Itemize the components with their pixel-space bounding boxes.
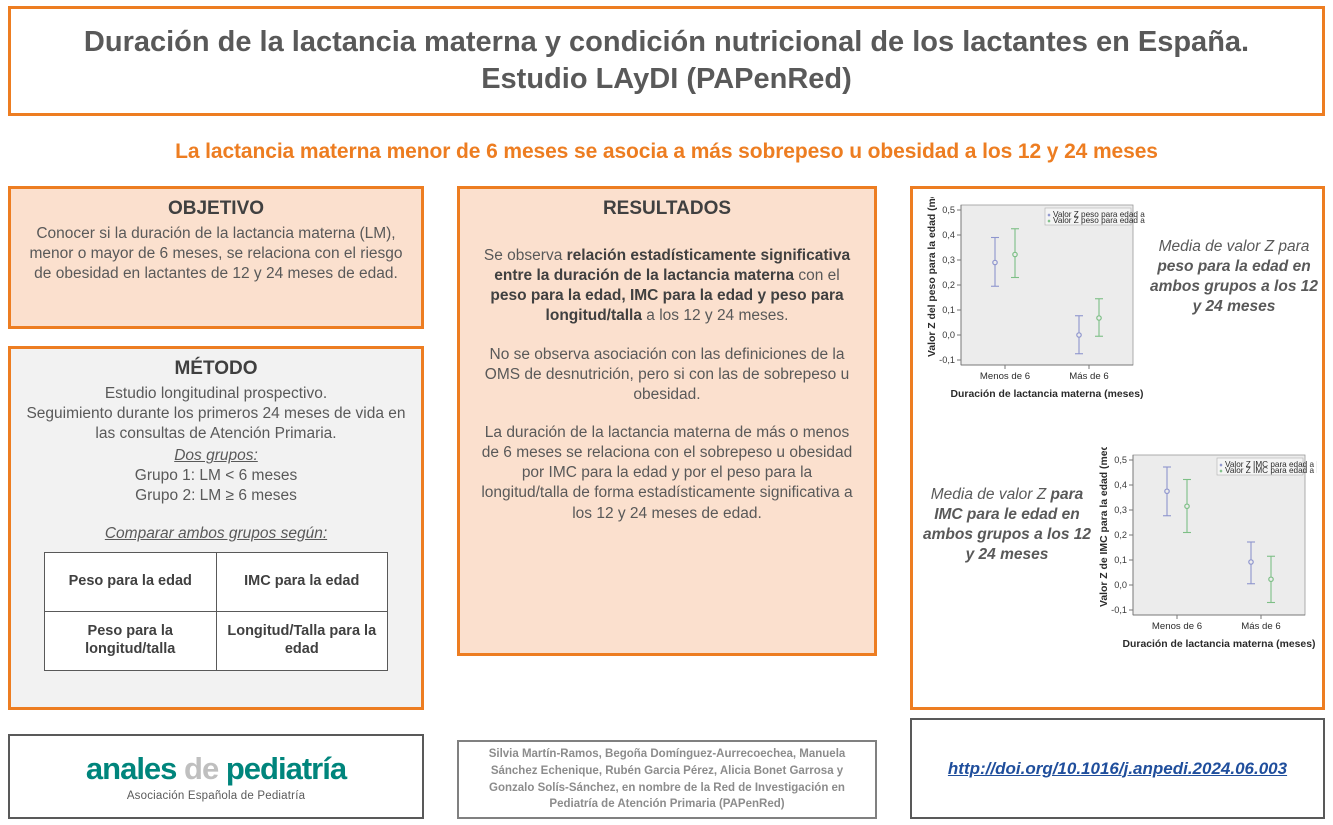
- metodo-indicators-table: Peso para la edad IMC para la edad Peso …: [44, 552, 388, 671]
- svg-text:0,2: 0,2: [942, 280, 955, 290]
- chart1-caption: Media de valor Z para peso para la edad …: [1145, 237, 1323, 318]
- metodo-section: MÉTODO Estudio longitudinal prospectivo.…: [8, 346, 424, 710]
- chart2-cat-2: Más de 6: [1241, 621, 1280, 632]
- logo-word-anales: anales: [86, 751, 177, 786]
- chart-imc-edad-svg: Valor Z de IMC para la edad (media ± IC …: [1093, 447, 1317, 659]
- authors-box: Silvia Martín-Ramos, Begoña Domínguez-Au…: [457, 740, 877, 819]
- doi-box: http://doi.org/10.1016/j.anpedi.2024.06.…: [910, 718, 1325, 819]
- metodo-compare-label: Comparar ambos grupos según:: [23, 524, 409, 544]
- resultados-paragraph-2: No se observa asociación con las definic…: [460, 345, 874, 405]
- logo-word-pediatria: pediatría: [226, 751, 346, 786]
- chart2-plot-area: [1133, 455, 1305, 615]
- svg-text:-0,1: -0,1: [939, 355, 955, 365]
- poster-subtitle: La lactancia materna menor de 6 meses se…: [8, 140, 1325, 164]
- res-p1-seg-c: con el: [794, 267, 840, 284]
- journal-logo-box: anales de pediatría Asociación Española …: [8, 734, 424, 819]
- table-cell-peso-edad: Peso para la edad: [45, 552, 217, 611]
- chart1-legend: Valor Z peso para edad a los 12 meses Va…: [1045, 208, 1145, 225]
- resultados-section: RESULTADOS Se observa relación estadísti…: [457, 186, 877, 656]
- svg-text:0,2: 0,2: [1114, 530, 1127, 540]
- svg-text:0,3: 0,3: [942, 255, 955, 265]
- chart1-cat-2: Más de 6: [1069, 371, 1108, 382]
- chart2-yaxis: 0,50,40,30,20,10,0-0,1: [1111, 455, 1133, 615]
- chart1-cat-1: Menos de 6: [980, 371, 1030, 382]
- metodo-body: Estudio longitudinal prospectivo. Seguim…: [11, 384, 421, 544]
- page-title: Duración de la lactancia materna y condi…: [11, 24, 1322, 98]
- chart2-cat-1: Menos de 6: [1152, 621, 1202, 632]
- chart2-ylabel: Valor Z de IMC para la edad (media ± IC …: [1099, 447, 1110, 607]
- objetivo-body: Conocer si la duración de la lactancia m…: [11, 224, 421, 283]
- cap2-seg-a: Media de valor Z: [931, 486, 1051, 503]
- chart-imc-edad: Valor Z de IMC para la edad (media ± IC …: [1093, 447, 1317, 659]
- chart2-caption: Media de valor Z para IMC para le edad e…: [921, 485, 1093, 566]
- chart-peso-edad-svg: Valor Z del peso para la edad (media ± I…: [921, 197, 1145, 409]
- chart1-ylabel: Valor Z del peso para la edad (media ± I…: [927, 197, 938, 357]
- svg-text:0,0: 0,0: [942, 330, 955, 340]
- metodo-line-1: Estudio longitudinal prospectivo.: [23, 384, 409, 404]
- poster-title-box: Duración de la lactancia materna y condi…: [8, 6, 1325, 116]
- res-p1-seg-e: a los 12 y 24 meses.: [642, 307, 788, 324]
- table-row: Peso para la edad IMC para la edad: [45, 552, 388, 611]
- poster-root: Duración de la lactancia materna y condi…: [0, 0, 1333, 825]
- metodo-heading: MÉTODO: [11, 358, 421, 380]
- cap1-seg-b: peso para la edad en ambos grupos a los …: [1150, 258, 1318, 315]
- table-cell-imc-edad: IMC para la edad: [216, 552, 388, 611]
- logo-subtitle: Asociación Española de Pediatría: [127, 790, 305, 802]
- svg-text:0,1: 0,1: [1114, 555, 1127, 565]
- chart2-legend-2: Valor Z IMC para edad a los 24 meses: [1225, 466, 1317, 475]
- metodo-spacer: [23, 506, 409, 521]
- chart1-xlabel: Duración de lactancia materna (meses): [951, 389, 1144, 400]
- chart-peso-edad: Valor Z del peso para la edad (media ± I…: [921, 197, 1145, 409]
- metodo-group-1: Grupo 1: LM < 6 meses: [23, 466, 409, 486]
- table-cell-longitud-edad: Longitud/Talla para la edad: [216, 611, 388, 670]
- authors-list: Silvia Martín-Ramos, Begoña Domínguez-Au…: [459, 746, 875, 813]
- svg-text:0,5: 0,5: [942, 205, 955, 215]
- svg-text:0,4: 0,4: [1114, 480, 1127, 490]
- anales-de-pediatria-logo: anales de pediatría Asociación Española …: [10, 736, 422, 817]
- metodo-line-2: Seguimiento durante los primeros 24 mese…: [23, 404, 409, 444]
- svg-text:-0,1: -0,1: [1111, 605, 1127, 615]
- table-row: Peso para la longitud/talla Longitud/Tal…: [45, 611, 388, 670]
- resultados-paragraph-1: Se observa relación estadísticamente sig…: [460, 246, 874, 327]
- res-p1-seg-a: Se observa: [484, 247, 567, 264]
- metodo-groups-label: Dos grupos:: [23, 446, 409, 466]
- logo-word-de: de: [184, 751, 218, 786]
- logo-wordmark: anales de pediatría: [86, 751, 346, 787]
- cap1-seg-a: Media de valor Z para: [1159, 238, 1310, 255]
- chart2-xlabel: Duración de lactancia materna (meses): [1123, 639, 1316, 650]
- chart2-xaxis: Menos de 6 Más de 6 Duración de lactanci…: [1123, 615, 1316, 650]
- objetivo-section: OBJETIVO Conocer si la duración de la la…: [8, 186, 424, 329]
- doi-link[interactable]: http://doi.org/10.1016/j.anpedi.2024.06.…: [948, 759, 1287, 779]
- chart1-legend-2: Valor Z peso para edad a los 24 meses: [1053, 216, 1145, 225]
- svg-text:0,3: 0,3: [1114, 505, 1127, 515]
- chart1-xaxis: Menos de 6 Más de 6 Duración de lactanci…: [951, 365, 1144, 400]
- svg-text:0,4: 0,4: [942, 230, 955, 240]
- svg-text:0,5: 0,5: [1114, 455, 1127, 465]
- chart2-legend: Valor Z IMC para edad a los 12 meses Val…: [1217, 458, 1317, 475]
- resultados-heading: RESULTADOS: [460, 198, 874, 220]
- chart1-yaxis: 0,50,40,30,20,10,0-0,1: [939, 205, 961, 365]
- charts-panel: Valor Z del peso para la edad (media ± I…: [910, 186, 1325, 710]
- svg-text:0,0: 0,0: [1114, 580, 1127, 590]
- objetivo-heading: OBJETIVO: [11, 198, 421, 220]
- resultados-paragraph-3: La duración de la lactancia materna de m…: [460, 423, 874, 524]
- chart1-plot-area: [961, 205, 1133, 365]
- metodo-group-2: Grupo 2: LM ≥ 6 meses: [23, 486, 409, 506]
- table-cell-peso-longitud: Peso para la longitud/talla: [45, 611, 217, 670]
- svg-text:0,1: 0,1: [942, 305, 955, 315]
